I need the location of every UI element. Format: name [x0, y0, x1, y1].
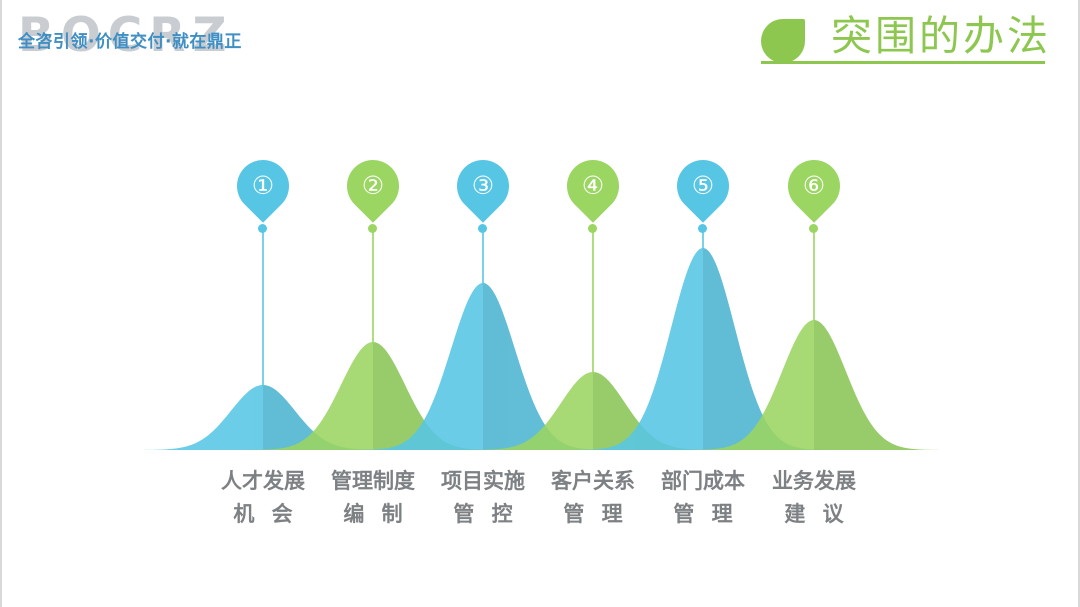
pin-marker-2[interactable]: ② [347, 160, 399, 228]
curve-label-6-line2: 建 议 [739, 498, 889, 531]
pin-anchor-dot-5 [698, 224, 707, 233]
pin-number-6: ⑥ [788, 160, 840, 212]
pin-anchor-dot-3 [478, 224, 487, 233]
pin-anchor-dot-4 [588, 224, 597, 233]
pin-number-1: ① [237, 160, 289, 212]
pin-number-4: ④ [567, 160, 619, 212]
pin-marker-6[interactable]: ⑥ [788, 160, 840, 228]
pin-anchor-dot-2 [368, 224, 377, 233]
curve-label-6-line1: 业务发展 [739, 465, 889, 498]
pin-marker-5[interactable]: ⑤ [677, 160, 729, 228]
pin-marker-1[interactable]: ① [237, 160, 289, 228]
pin-anchor-dot-1 [258, 224, 267, 233]
pin-number-3: ③ [457, 160, 509, 212]
pin-number-5: ⑤ [677, 160, 729, 212]
slide-canvas: BOCRZ 全咨引领·价值交付·就在鼎正 突围的办法 ①②③④⑤⑥ 人才发展机 … [0, 0, 1080, 607]
bell-curve-6-right [814, 320, 940, 450]
pin-marker-4[interactable]: ④ [567, 160, 619, 228]
pin-marker-3[interactable]: ③ [457, 160, 509, 228]
pin-number-2: ② [347, 160, 399, 212]
pin-anchor-dot-6 [809, 224, 818, 233]
curve-label-6: 业务发展建 议 [739, 465, 889, 531]
bell-curve-1-left [137, 385, 263, 450]
